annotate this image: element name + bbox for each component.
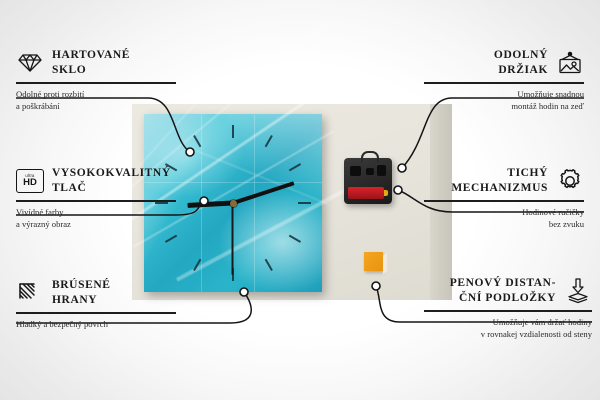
feature-foam-spacers: PENOVÝ DISTAN-ČNÍ PODLOŽKY Umožňuje vám … [424,276,592,341]
feature-title: VYSOKOKVALITNÝTLAČ [52,166,171,195]
infographic-canvas: HARTOVANÉSKLO Odolné proti rozbitía pošk… [0,0,600,400]
divider [16,82,176,83]
feature-description: Vivídné farbya výrazný obraz [16,206,176,231]
clock-tick [233,202,311,204]
feature-header: TICHÝMECHANIZMUS [424,166,584,195]
feature-ground-edges: BRÚSENÉHRANY Hladký a bezpečný povrch [16,278,176,330]
mechanism-detail [377,165,386,176]
feature-description: Hladký a bezpečný povrch [16,318,176,330]
feature-header: ultra HD VYSOKOKVALITNÝTLAČ [16,166,176,195]
feature-tempered-glass: HARTOVANÉSKLO Odolné proti rozbitía pošk… [16,48,176,113]
hanging-picture-icon [556,50,584,76]
hd-label: HD [23,178,37,188]
divider [16,312,176,313]
diamond-icon [16,50,44,76]
feature-header: HARTOVANÉSKLO [16,48,176,77]
feature-header: ODOLNÝDRŽIAK [424,48,584,77]
feature-title: TICHÝMECHANIZMUS [451,166,548,195]
clock-center-cap [230,200,237,207]
mechanism-detail [350,166,361,176]
feature-durable-holder: ODOLNÝDRŽIAK Umožňuje snadnoumontáž hodi… [424,48,584,113]
arrow-onto-layers-icon [564,278,592,304]
feature-title: ODOLNÝDRŽIAK [494,48,548,77]
feature-title: BRÚSENÉHRANY [52,278,111,307]
feature-description: Umožňuje snadnoumontáž hodin na zeď [424,88,584,113]
feature-description: Umožňuje vám držať hodinyv rovnakej vzdi… [424,316,592,341]
clock-mechanism [344,158,392,204]
diagonal-lines-icon [16,280,44,306]
clock-tick [232,125,234,203]
mechanism-detail [366,168,374,175]
divider [424,310,592,311]
gear-icon [556,168,584,194]
divider [424,82,584,83]
feature-header: PENOVÝ DISTAN-ČNÍ PODLOŽKY [424,276,592,305]
feature-description: Odolné proti rozbitía poškrábání [16,88,176,113]
feature-title: HARTOVANÉSKLO [52,48,130,77]
feature-header: BRÚSENÉHRANY [16,278,176,307]
mechanism-hanger [361,151,379,162]
battery [348,187,384,199]
feature-silent-mechanism: TICHÝMECHANIZMUS Hodinové ručičkybez zvu… [424,166,584,231]
feature-high-quality-print: ultra HD VYSOKOKVALITNÝTLAČ Vivídné farb… [16,166,176,231]
divider [16,200,176,201]
feature-title: PENOVÝ DISTAN-ČNÍ PODLOŽKY [450,276,556,305]
foam-spacer-pad [364,252,383,271]
feature-description: Hodinové ručičkybez zvuku [424,206,584,231]
ultra-hd-badge-icon: ultra HD [16,168,44,194]
divider [424,200,584,201]
product-photo [132,104,452,300]
